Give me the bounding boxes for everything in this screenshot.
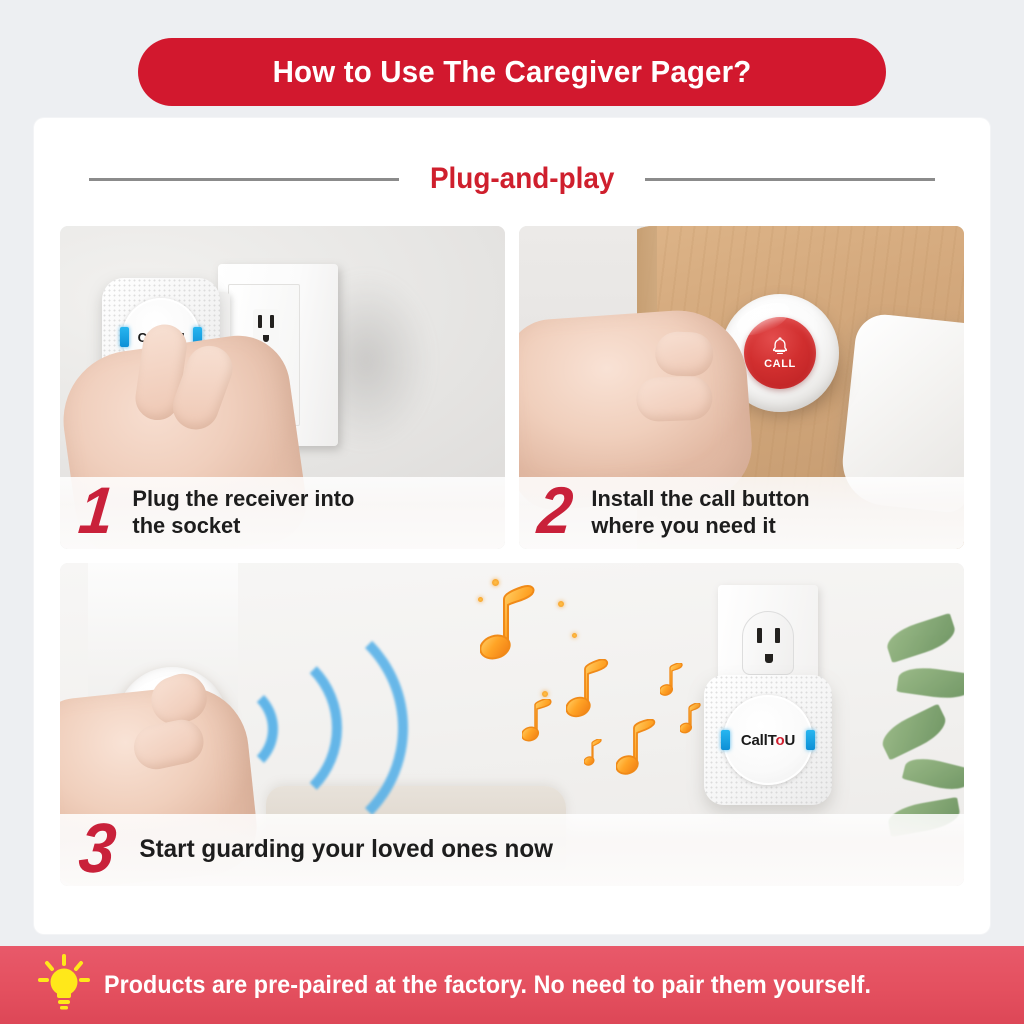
receiver-device: CallToU: [704, 675, 832, 805]
sparkle-dot: [542, 691, 548, 697]
finger: [636, 375, 713, 422]
steps-grid: CallToU 1 Plug the receiver into the soc…: [60, 226, 964, 886]
step-2-line2: where you need it: [591, 513, 775, 538]
steps-row-top: CallToU 1 Plug the receiver into the soc…: [60, 226, 964, 549]
step-3-number: 3: [77, 821, 119, 876]
bell-icon: [769, 336, 791, 356]
footer-note: Products are pre-paired at the factory. …: [104, 971, 871, 1000]
led-left: [721, 730, 730, 750]
step-panel-2: CALL 2 Install the call button where you…: [519, 226, 964, 549]
led-left: [120, 327, 129, 347]
music-note-tiny: [660, 663, 686, 702]
divider-right: [645, 178, 935, 181]
sparkle-dot: [492, 579, 499, 586]
music-note-tiny: [680, 703, 704, 740]
receiver-brand-logo: CallToU: [741, 732, 795, 749]
content-card: Plug-and-play: [34, 118, 990, 934]
step-1-line2: the socket: [132, 513, 240, 538]
receiver-face: CallToU: [723, 695, 813, 785]
steps-row-bottom: CallToU: [60, 563, 964, 886]
step-panel-1: CallToU 1 Plug the receiver into the soc…: [60, 226, 505, 549]
music-note-small: [522, 699, 556, 748]
step-2-number: 2: [536, 485, 575, 536]
step-1-line1: Plug the receiver into: [132, 486, 354, 511]
step-3-text: Start guarding your loved ones now: [139, 835, 553, 865]
section-heading-label: Plug-and-play: [430, 162, 614, 196]
title-banner: How to Use The Caregiver Pager?: [138, 38, 886, 106]
music-note-medium: [566, 659, 616, 724]
footer-banner: Products are pre-paired at the factory. …: [0, 946, 1024, 1024]
divider-left: [89, 178, 399, 181]
led-right: [806, 730, 815, 750]
step-panel-3: CallToU: [60, 563, 964, 886]
step-1-text: Plug the receiver into the socket: [132, 486, 354, 539]
step-2-line1: Install the call button: [591, 486, 809, 511]
page-title: How to Use The Caregiver Pager?: [273, 54, 752, 90]
sparkle-dot: [478, 597, 483, 602]
step-3-caption: 3 Start guarding your loved ones now: [60, 814, 964, 886]
outlet-socket-face: [742, 611, 794, 675]
step-2-caption: 2 Install the call button where you need…: [519, 477, 964, 549]
sparkle-dot: [572, 633, 577, 638]
lightbulb-icon: [38, 954, 90, 1017]
step-1-number: 1: [77, 485, 116, 536]
music-note-tiny: [584, 739, 604, 772]
finger: [655, 331, 715, 377]
step-2-text: Install the call button where you need i…: [591, 486, 809, 539]
step-1-caption: 1 Plug the receiver into the socket: [60, 477, 505, 549]
sparkle-dot: [558, 601, 564, 607]
music-note-large: [480, 585, 546, 668]
music-note-medium: [616, 719, 662, 782]
section-heading: Plug-and-play: [34, 156, 990, 202]
finger: [130, 716, 208, 774]
call-button-label: CALL: [764, 358, 796, 370]
